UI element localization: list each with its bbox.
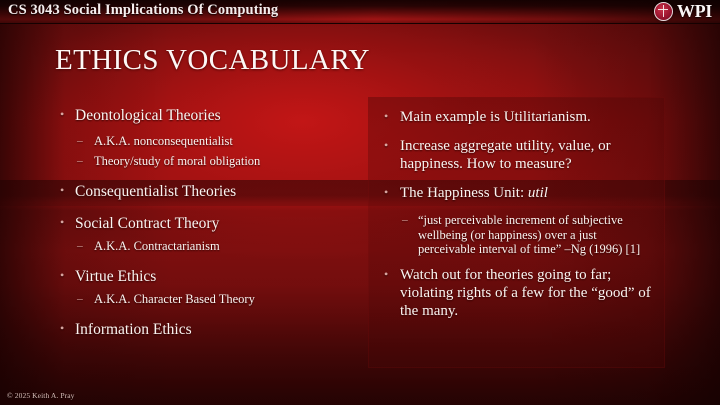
list-item: Virtue Ethics	[58, 267, 358, 286]
right-bullet-list: Main example is Utilitarianism. Increase…	[381, 108, 653, 331]
list-item: “just perceivable increment of subjectiv…	[381, 213, 653, 257]
list-item: Main example is Utilitarianism.	[381, 108, 653, 126]
list-item: Social Contract Theory	[58, 214, 358, 233]
list-item: A.K.A. Contractarianism	[58, 239, 358, 254]
happiness-unit-label: The Happiness Unit:	[400, 185, 528, 201]
slide-header-bar: CS 3043 Social Implications Of Computing…	[0, 0, 720, 24]
list-item: Increase aggregate utility, value, or ha…	[381, 137, 653, 173]
list-item: Deontological Theories	[58, 106, 358, 125]
copyright-footer: © 2025 Keith A. Pray	[7, 391, 75, 400]
happiness-unit-emphasis: util	[528, 185, 548, 201]
right-content-panel: Main example is Utilitarianism. Increase…	[368, 97, 665, 368]
presentation-slide: CS 3043 Social Implications Of Computing…	[0, 0, 720, 405]
list-item: Theory/study of moral obligation	[58, 154, 358, 169]
wpi-seal-icon	[654, 2, 673, 21]
wpi-logo-text: WPI	[677, 1, 712, 21]
list-item-happiness-unit: The Happiness Unit: util	[381, 184, 653, 202]
left-bullet-list: Deontological Theories A.K.A. nonconsequ…	[58, 106, 358, 348]
list-item: A.K.A. Character Based Theory	[58, 292, 358, 307]
course-title: CS 3043 Social Implications Of Computing	[8, 2, 278, 19]
list-item: Information Ethics	[58, 320, 358, 339]
page-title: ETHICS VOCABULARY	[55, 44, 370, 77]
wpi-logo: WPI	[654, 1, 712, 21]
list-item: Watch out for theories going to far; vio…	[381, 266, 653, 320]
list-item: Consequentialist Theories	[58, 182, 358, 201]
list-item: A.K.A. nonconsequentialist	[58, 134, 358, 149]
